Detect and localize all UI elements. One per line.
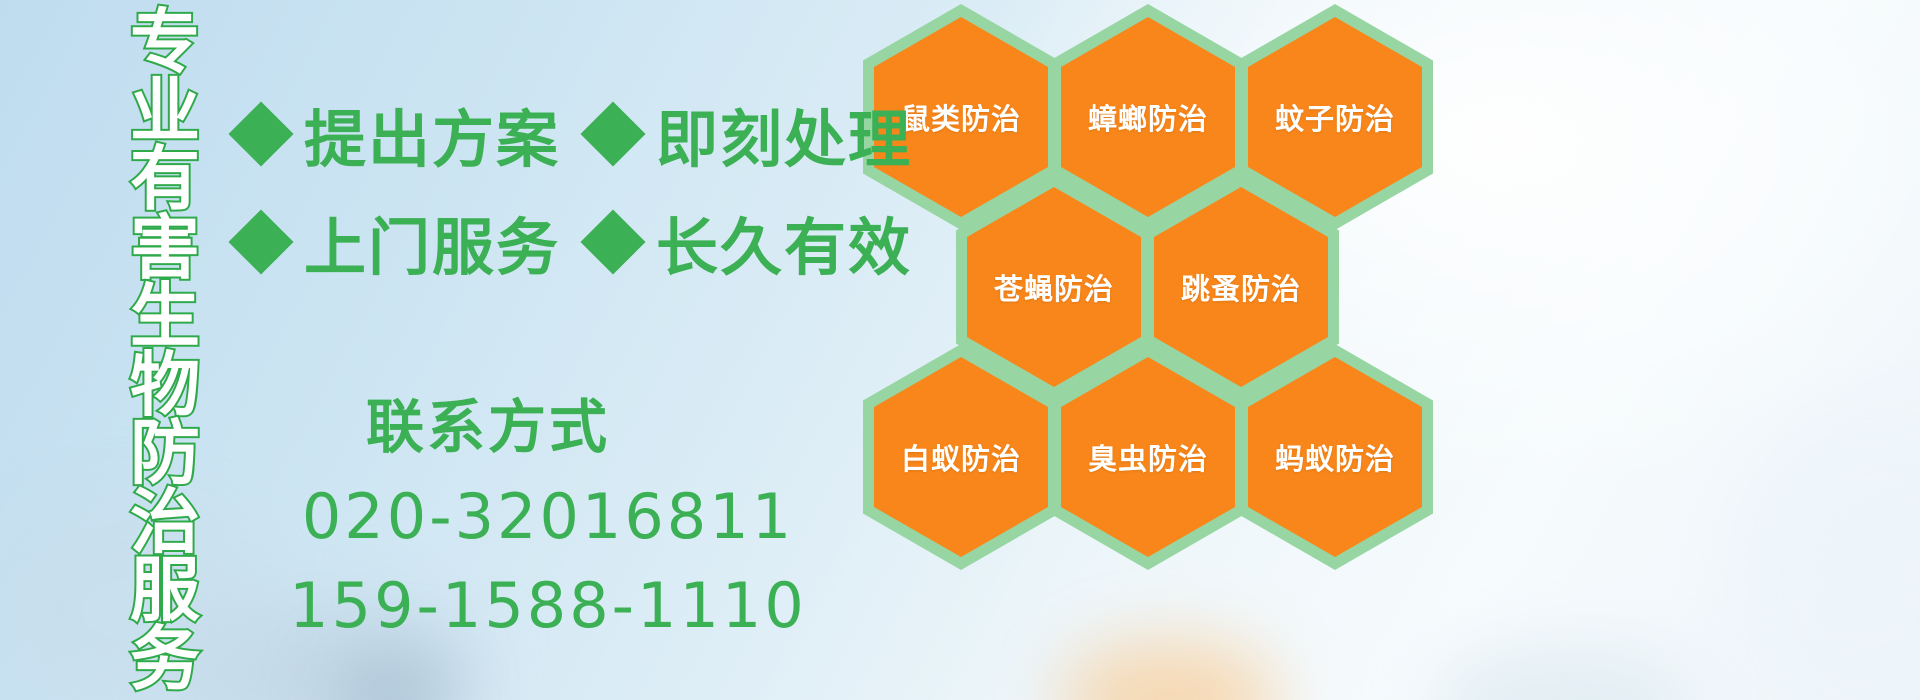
background-blur-shape	[330, 655, 450, 700]
feature-row: 上门服务 长久有效	[238, 188, 912, 296]
feature-list: 提出方案 即刻处理 上门服务 长久有效	[238, 80, 912, 296]
contact-title: 联系方式	[118, 380, 858, 464]
vertical-headline-char: 务	[130, 625, 200, 694]
diamond-icon	[228, 101, 293, 166]
hex-label: 蚊子防治	[1275, 96, 1395, 138]
diamond-icon	[580, 101, 645, 166]
contact-block: 联系方式 020-32016811 159-1588-1110	[238, 380, 858, 642]
diamond-icon	[228, 209, 293, 274]
background-blur-shape	[1740, 420, 1920, 700]
hex-cell-bedbug[interactable]: 臭虫防治	[1050, 344, 1246, 570]
hex-label: 鼠类防治	[901, 96, 1021, 138]
hex-label: 蟑螂防治	[1088, 96, 1208, 138]
contact-phone-landline[interactable]: 020-32016811	[238, 480, 858, 553]
service-banner: 专 业 有 害 生 物 防 治 服 务 提出方案 即刻处理 上门服务	[0, 0, 1920, 700]
service-hexagon-grid: 鼠类防治 蟑螂防治 蚊子防治 苍蝇防治 跳蚤防治 白蚁防治	[855, 0, 1475, 700]
vertical-headline-char: 治	[130, 488, 200, 557]
feature-label: 长久有效	[656, 197, 912, 287]
feature-row: 提出方案 即刻处理	[238, 80, 912, 188]
vertical-headline-char: 害	[130, 214, 200, 283]
feature-label: 提出方案	[304, 89, 560, 179]
hex-label: 臭虫防治	[1088, 436, 1208, 478]
feature-label: 上门服务	[304, 197, 560, 287]
hex-cell-ant[interactable]: 蚂蚁防治	[1237, 344, 1433, 570]
vertical-headline: 专 业 有 害 生 物 防 治 服 务	[110, 8, 220, 698]
feature-item: 提出方案	[238, 89, 560, 179]
hex-label: 苍蝇防治	[994, 266, 1114, 308]
feature-item: 即刻处理	[590, 89, 912, 179]
diamond-icon	[580, 209, 645, 274]
vertical-headline-char: 服	[130, 556, 200, 625]
vertical-headline-char: 有	[130, 145, 200, 214]
vertical-headline-char: 生	[130, 282, 200, 351]
feature-item: 长久有效	[590, 197, 912, 287]
hex-label: 白蚁防治	[901, 436, 1021, 478]
vertical-headline-char: 专	[130, 8, 200, 77]
feature-item: 上门服务	[238, 197, 560, 287]
hex-label: 跳蚤防治	[1181, 266, 1301, 308]
vertical-headline-char: 业	[130, 77, 200, 146]
feature-label: 即刻处理	[656, 89, 912, 179]
hex-label: 蚂蚁防治	[1275, 436, 1395, 478]
contact-phone-mobile[interactable]: 159-1588-1110	[238, 569, 858, 642]
hex-cell-termite[interactable]: 白蚁防治	[863, 344, 1059, 570]
